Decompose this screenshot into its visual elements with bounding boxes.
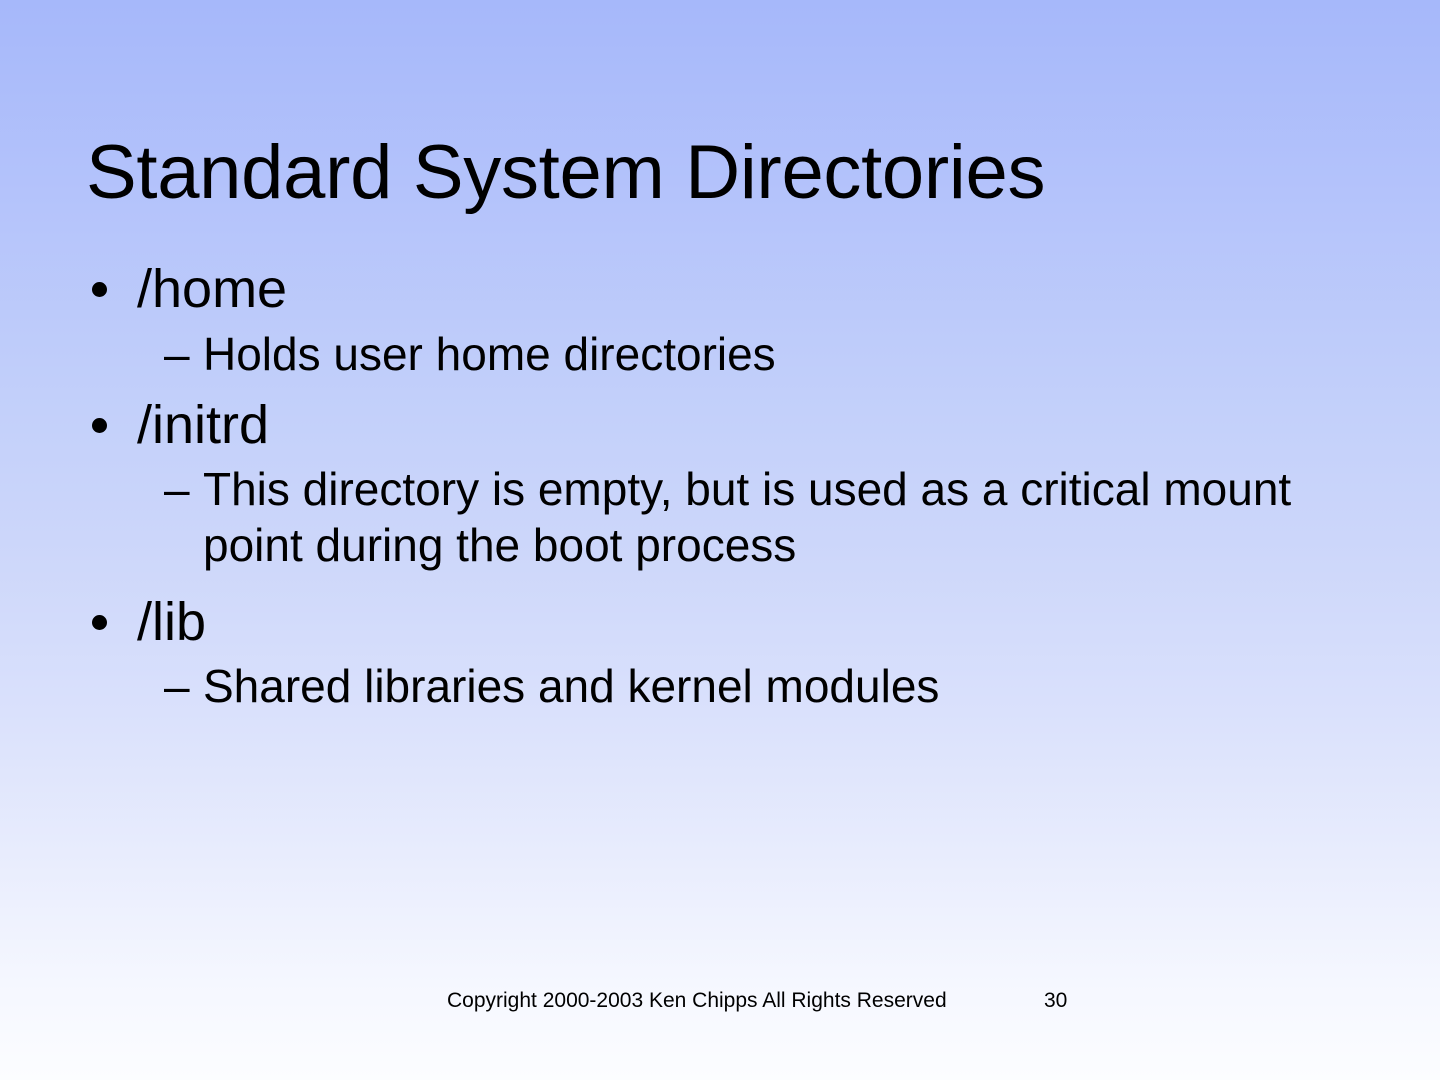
bullet-dash-icon: – [164,327,190,382]
bullet-level1-label: /initrd [137,395,269,455]
bullet-item-level2: – This directory is empty, but is used a… [164,462,1376,572]
bullet-item-level1: /lib [86,591,1376,654]
bullet-item-level2: – Shared libraries and kernel modules [164,659,1376,714]
bullet-dash-icon: – [164,462,190,517]
slide-canvas: Standard System Directories /home – Hold… [0,0,1440,1080]
bullet-level2-label: This directory is empty, but is used as … [203,462,1376,572]
footer-copyright-text: Copyright 2000-2003 Ken Chipps All Right… [447,988,947,1014]
bullet-item-level1: /initrd [86,394,1376,457]
bullet-dash-icon: – [164,659,190,714]
bullet-group-lib: /lib – Shared libraries and kernel modul… [86,591,1376,715]
bullet-group-home: /home – Holds user home directories [86,258,1376,382]
content-placeholder: /home – Holds user home directories /ini… [86,258,1376,727]
bullet-level1-label: /lib [137,592,206,652]
slide-number: 30 [1044,988,1067,1014]
page-title: Standard System Directories [86,133,1356,214]
slide-footer: Copyright 2000-2003 Ken Chipps All Right… [0,988,1440,1020]
bullet-dot-icon [92,615,107,630]
bullet-group-initrd: /initrd – This directory is empty, but i… [86,394,1376,573]
bullet-item-level2: – Holds user home directories [164,327,1376,382]
bullet-dot-icon [92,418,107,433]
bullet-dot-icon [92,282,107,297]
bullet-level1-label: /home [137,259,287,319]
bullet-item-level1: /home [86,258,1376,321]
bullet-level2-label: Holds user home directories [203,327,1376,382]
bullet-level2-label: Shared libraries and kernel modules [203,659,1376,714]
